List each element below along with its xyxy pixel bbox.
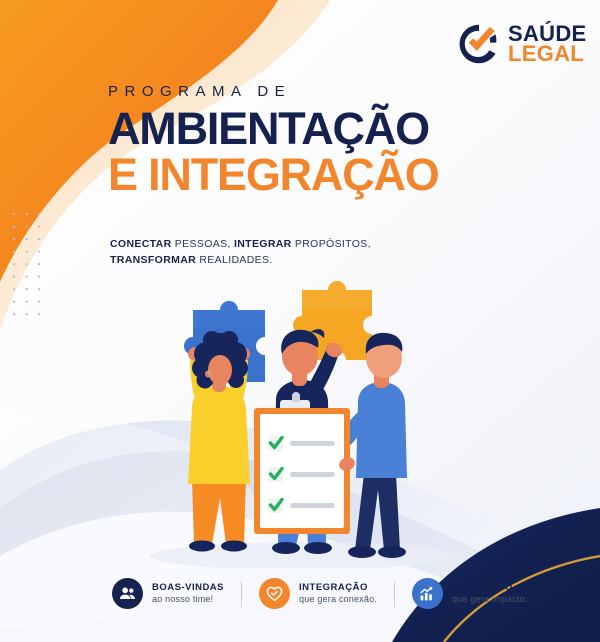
footer-title: BOAS-VINDAS xyxy=(152,582,224,594)
title-line-2: E INTEGRAÇÃO xyxy=(108,153,528,197)
footer-subtitle: que gera conexão. xyxy=(299,594,377,605)
team-illustration xyxy=(150,278,450,568)
subtitle-block: CONECTAR PESSOAS, INTEGRAR PROPÓSITOS,TR… xyxy=(110,236,450,269)
footer-highlights: BOAS-VINDAS ao nosso time! INTEGRAÇÃO qu… xyxy=(112,578,527,609)
brand-logo: SAÚDE LEGAL xyxy=(457,22,587,66)
logo-text-bottom: LEGAL xyxy=(508,44,587,64)
checklist-clipboard xyxy=(254,392,350,534)
subtitle-plain-1: PESSOAS, xyxy=(172,238,234,250)
person-left-yellow xyxy=(188,331,250,552)
subtitle-bold-1: CONECTAR xyxy=(110,238,172,250)
kicker-text: PROGRAMA DE xyxy=(108,84,528,99)
bg-dot-grid xyxy=(6,204,50,320)
title-line-1: AMBIENTAÇÃO xyxy=(108,107,528,151)
shield-check-icon xyxy=(457,22,501,66)
footer-title: INTEGRAÇÃO xyxy=(299,582,377,594)
subtitle-plain-3: REALIDADES. xyxy=(196,254,273,266)
growth-chart-icon xyxy=(412,578,443,609)
subtitle-bold-3: TRANSFORMAR xyxy=(110,254,196,266)
subtitle-plain-2: PROPÓSITOS, xyxy=(292,238,371,250)
footer-subtitle: que gera impacto. xyxy=(452,594,527,605)
people-group-icon xyxy=(112,578,143,609)
footer-item-boas-vindas[interactable]: BOAS-VINDAS ao nosso time! xyxy=(112,578,224,609)
footer-subtitle: ao nosso time! xyxy=(152,594,224,605)
footer-item-proposito[interactable]: PROPÓSITO que gera impacto. xyxy=(412,578,527,609)
subtitle-bold-2: INTEGRAR xyxy=(234,238,292,250)
footer-divider-1 xyxy=(241,581,242,607)
footer-divider-2 xyxy=(394,581,395,607)
headline-block: PROGRAMA DE AMBIENTAÇÃO E INTEGRAÇÃO xyxy=(108,84,528,197)
heart-handshake-icon xyxy=(259,578,290,609)
poster-canvas: SAÚDE LEGAL PROGRAMA DE AMBIENTAÇÃO E IN… xyxy=(0,0,600,642)
footer-item-integracao[interactable]: INTEGRAÇÃO que gera conexão. xyxy=(259,578,377,609)
footer-title: PROPÓSITO xyxy=(452,582,527,594)
